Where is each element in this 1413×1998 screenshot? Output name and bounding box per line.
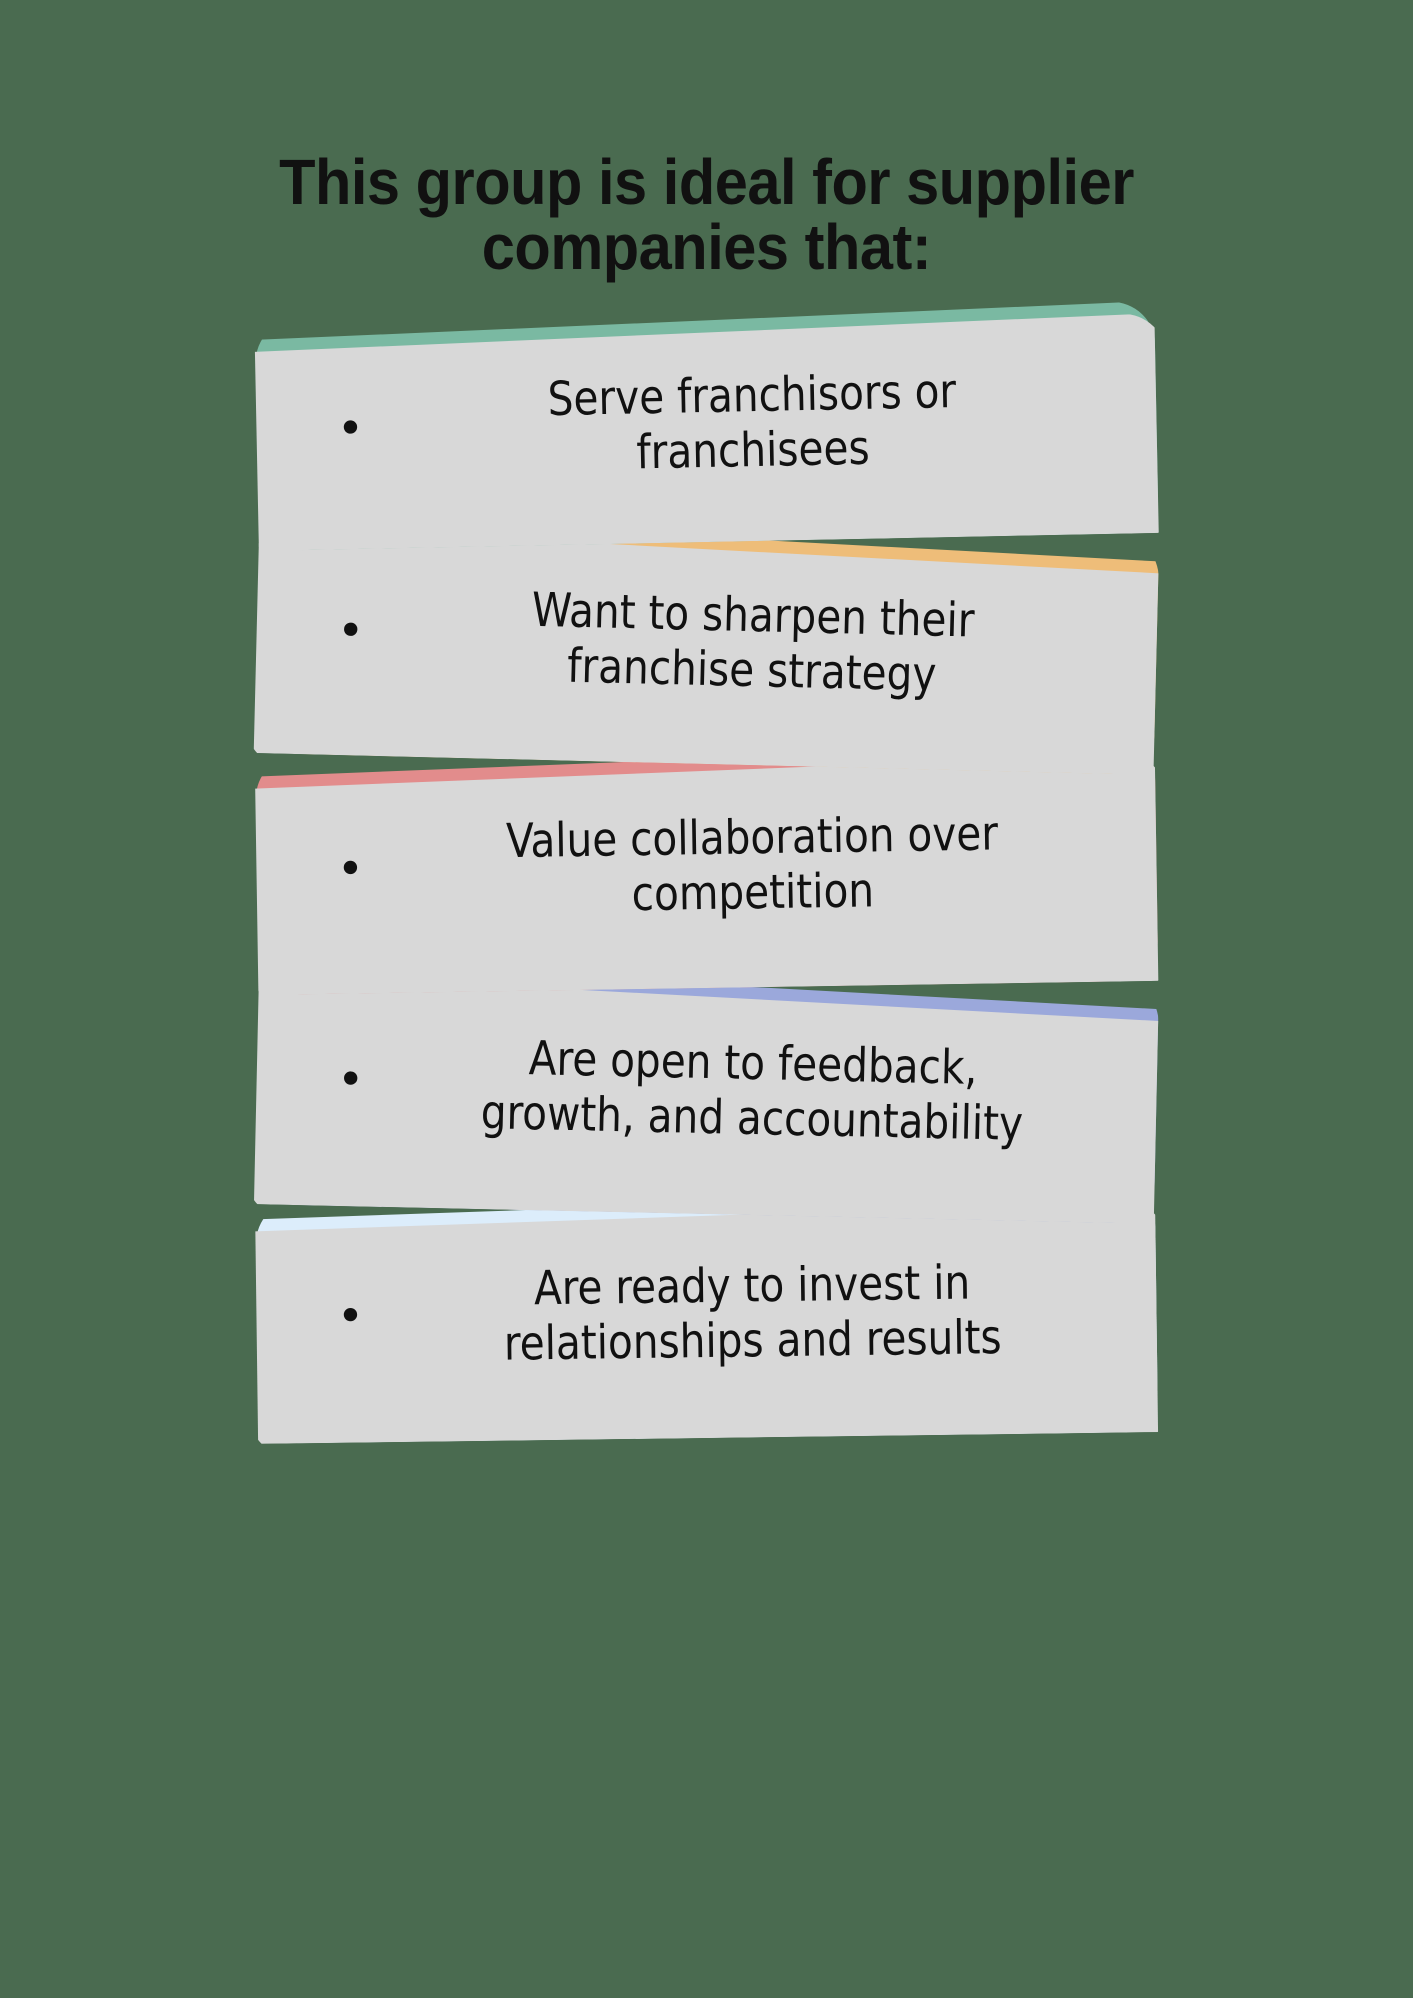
bullet-icon: •: [290, 1055, 411, 1110]
card-text-line-1: Are ready to invest in: [433, 1254, 1069, 1318]
criteria-card-serve-franchisors[interactable]: • Serve franchisors or franchisees: [254, 301, 1158, 551]
card-text: Want to sharpen their franchise strategy: [433, 580, 1094, 707]
page-title-line-2: companies that:: [189, 215, 1224, 280]
card-content: • Value collaboration over competition: [290, 804, 1108, 928]
card-text-line-2: franchisees: [434, 417, 1071, 485]
card-content: • Are ready to invest in relationships a…: [290, 1253, 1107, 1375]
criteria-card-ready-to-invest[interactable]: • Are ready to invest in relationships a…: [255, 1188, 1158, 1444]
card-content: • Are open to feedback, growth, and acco…: [289, 1025, 1107, 1154]
bullet-icon: •: [290, 845, 411, 899]
card-wrapper-open-to-feedback: • Are open to feedback, growth, and acco…: [0, 955, 1413, 1230]
card-text: Are ready to invest in relationships and…: [433, 1253, 1093, 1373]
page-title-line-1: This group is ideal for supplier: [189, 150, 1224, 215]
bullet-icon: •: [290, 606, 411, 661]
card-wrapper-serve-franchisors: • Serve franchisors or franchisees: [0, 296, 1413, 556]
card-wrapper-value-collaboration: • Value collaboration over competition: [0, 737, 1413, 999]
criteria-card-value-collaboration[interactable]: • Value collaboration over competition: [255, 741, 1159, 995]
card-text: Value collaboration over competition: [433, 804, 1093, 925]
bullet-icon: •: [290, 1292, 411, 1346]
card-content: • Serve franchisors or franchisees: [289, 361, 1107, 488]
card-text: Are open to feedback, growth, and accoun…: [433, 1029, 1094, 1154]
card-text-line-2: competition: [434, 860, 1070, 925]
criteria-card-open-to-feedback[interactable]: • Are open to feedback, growth, and acco…: [254, 960, 1159, 1224]
card-text: Serve franchisors or franchisees: [433, 361, 1094, 485]
page-title: This group is ideal for supplier compani…: [0, 150, 1413, 281]
card-text-line-2: relationships and results: [434, 1309, 1070, 1373]
bullet-icon: •: [290, 404, 411, 458]
card-text-line-1: Value collaboration over: [433, 805, 1069, 870]
infographic-page: This group is ideal for supplier compani…: [0, 0, 1413, 1998]
card-content: • Want to sharpen their franchise strate…: [289, 576, 1107, 707]
criteria-card-stack: • Serve franchisors or franchisees • Wan…: [0, 310, 1413, 1430]
criteria-card-sharpen-strategy[interactable]: • Want to sharpen their franchise strate…: [254, 513, 1160, 775]
